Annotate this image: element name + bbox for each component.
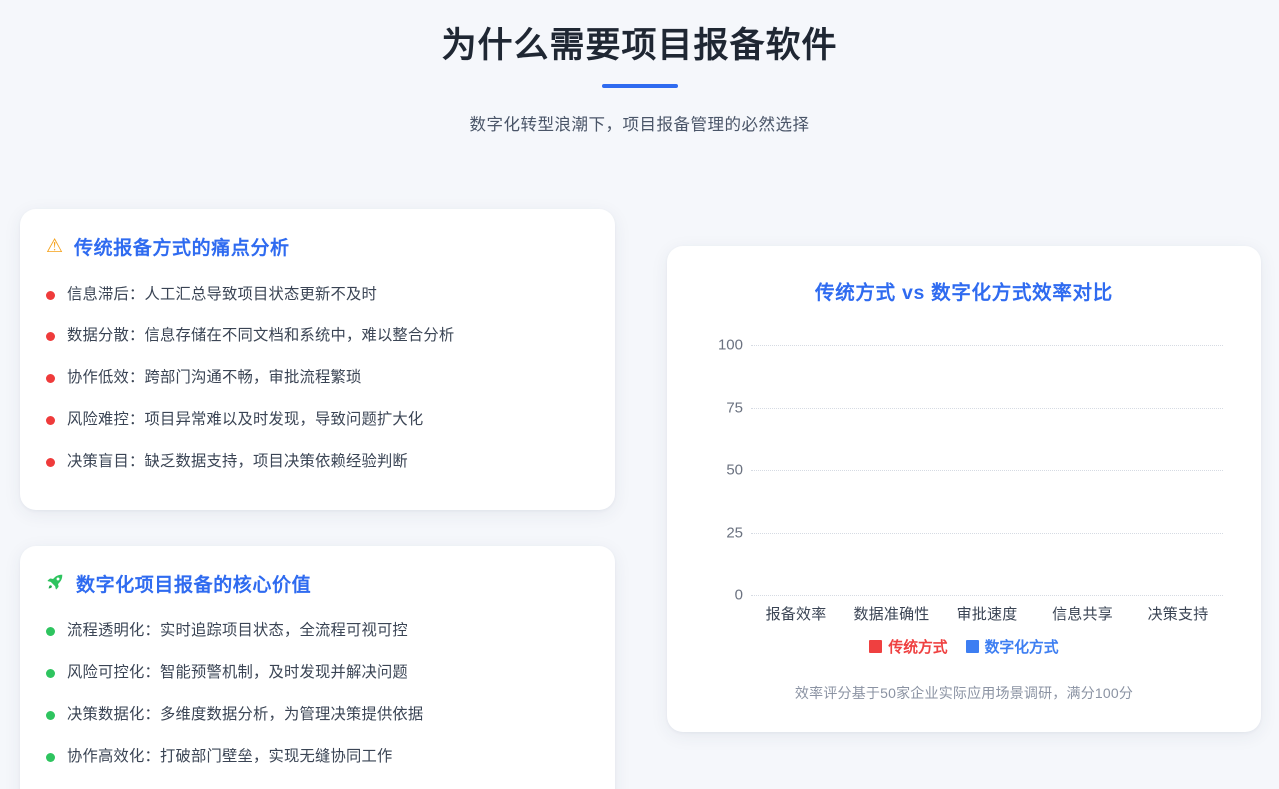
list-item-text: 数据分散：信息存储在不同文档和系统中，难以整合分析 <box>67 325 454 348</box>
bullet-dot-icon <box>46 332 55 341</box>
list-item: 信息滞后：人工汇总导致项目状态更新不及时 <box>46 274 589 316</box>
chart-legend: 传统方式 数字化方式 <box>695 636 1233 657</box>
list-item-text: 决策数据化：多维度数据分析，为管理决策提供依据 <box>67 704 423 727</box>
pain-points-card-header: ⚠ 传统报备方式的痛点分析 <box>46 233 589 260</box>
core-value-list: 流程透明化：实时追踪项目状态，全流程可视可控 风险可控化：智能预警机制，及时发现… <box>46 611 589 789</box>
pain-points-list: 信息滞后：人工汇总导致项目状态更新不及时 数据分散：信息存储在不同文档和系统中，… <box>46 274 589 484</box>
warning-triangle-icon: ⚠ <box>46 237 63 256</box>
y-axis-tick-label: 25 <box>726 524 743 541</box>
chart-plot-area: 0255075100 <box>751 345 1223 595</box>
page-title: 为什么需要项目报备软件 <box>0 24 1279 68</box>
list-item-text: 协作高效化：打破部门壁垒，实现无缝协同工作 <box>67 746 392 769</box>
core-value-card-title: 数字化项目报备的核心价值 <box>76 570 311 597</box>
list-item: 决策数据化：多维度数据分析，为管理决策提供依据 <box>46 695 589 737</box>
list-item-text: 协作低效：跨部门沟通不畅，审批流程繁琐 <box>67 367 361 390</box>
bullet-dot-icon <box>46 627 55 636</box>
list-item: 风险难控：项目异常难以及时发现，导致问题扩大化 <box>46 400 589 442</box>
chart-title: 传统方式 vs 数字化方式效率对比 <box>695 276 1233 305</box>
gridline <box>751 595 1223 596</box>
rocket-icon <box>46 572 65 595</box>
y-axis-tick-label: 50 <box>726 462 743 479</box>
chart-bars <box>751 345 1223 595</box>
page-header: 为什么需要项目报备软件 数字化转型浪潮下，项目报备管理的必然选择 <box>0 0 1279 135</box>
bullet-dot-icon <box>46 374 55 383</box>
y-axis-tick-label: 0 <box>735 587 743 604</box>
x-axis-tick-label: 信息共享 <box>1044 603 1122 624</box>
left-column: ⚠ 传统报备方式的痛点分析 信息滞后：人工汇总导致项目状态更新不及时 数据分散：… <box>20 209 615 789</box>
list-item-text: 流程透明化：实时追踪项目状态，全流程可视可控 <box>67 620 408 643</box>
legend-label: 传统方式 <box>888 636 947 657</box>
x-axis-tick-labels: 报备效率数据准确性审批速度信息共享决策支持 <box>751 603 1223 624</box>
pain-points-card: ⚠ 传统报备方式的痛点分析 信息滞后：人工汇总导致项目状态更新不及时 数据分散：… <box>20 209 615 510</box>
y-axis-tick-label: 75 <box>726 399 743 416</box>
bullet-dot-icon <box>46 458 55 467</box>
pain-points-card-title: 传统报备方式的痛点分析 <box>74 233 290 260</box>
efficiency-comparison-chart-card: 传统方式 vs 数字化方式效率对比 0255075100 报备效率数据准确性审批… <box>667 246 1261 732</box>
bullet-dot-icon <box>46 291 55 300</box>
title-underline-accent <box>602 84 678 88</box>
core-value-card: 数字化项目报备的核心价值 流程透明化：实时追踪项目状态，全流程可视可控 风险可控… <box>20 546 615 789</box>
list-item: 协作高效化：打破部门壁垒，实现无缝协同工作 <box>46 737 589 779</box>
x-axis-tick-label: 审批速度 <box>948 603 1026 624</box>
legend-swatch-icon <box>869 640 882 653</box>
list-item: 流程透明化：实时追踪项目状态，全流程可视可控 <box>46 611 589 653</box>
list-item: 数据分散：信息存储在不同文档和系统中，难以整合分析 <box>46 316 589 358</box>
y-axis-tick-labels: 0255075100 <box>695 345 743 595</box>
bullet-dot-icon <box>46 753 55 762</box>
legend-item-traditional: 传统方式 <box>869 636 947 657</box>
list-item: 协作低效：跨部门沟通不畅，审批流程繁琐 <box>46 358 589 400</box>
legend-swatch-icon <box>966 640 979 653</box>
list-item-text: 决策盲目：缺乏数据支持，项目决策依赖经验判断 <box>67 451 408 474</box>
chart-footnote: 效率评分基于50家企业实际应用场景调研，满分100分 <box>695 683 1233 703</box>
list-item-text: 风险难控：项目异常难以及时发现，导致问题扩大化 <box>67 409 423 432</box>
bullet-dot-icon <box>46 416 55 425</box>
legend-label: 数字化方式 <box>985 636 1059 657</box>
list-item-text: 信息滞后：人工汇总导致项目状态更新不及时 <box>67 284 377 307</box>
legend-item-digital: 数字化方式 <box>966 636 1059 657</box>
list-item: 决策盲目：缺乏数据支持，项目决策依赖经验判断 <box>46 442 589 484</box>
page-subtitle: 数字化转型浪潮下，项目报备管理的必然选择 <box>0 111 1279 135</box>
content-columns: ⚠ 传统报备方式的痛点分析 信息滞后：人工汇总导致项目状态更新不及时 数据分散：… <box>20 209 1261 789</box>
x-axis-tick-label: 数据准确性 <box>853 603 931 624</box>
right-column: 传统方式 vs 数字化方式效率对比 0255075100 报备效率数据准确性审批… <box>667 209 1261 732</box>
x-axis-tick-label: 报备效率 <box>757 603 835 624</box>
core-value-card-header: 数字化项目报备的核心价值 <box>46 570 589 597</box>
list-item: 风险可控化：智能预警机制，及时发现并解决问题 <box>46 653 589 695</box>
y-axis-tick-label: 100 <box>718 337 743 354</box>
list-item: 管理标准化：统一项目管理流程，提升管理规范性 <box>46 778 589 789</box>
bullet-dot-icon <box>46 711 55 720</box>
bullet-dot-icon <box>46 669 55 678</box>
list-item-text: 风险可控化：智能预警机制，及时发现并解决问题 <box>67 662 408 685</box>
x-axis-tick-label: 决策支持 <box>1139 603 1217 624</box>
